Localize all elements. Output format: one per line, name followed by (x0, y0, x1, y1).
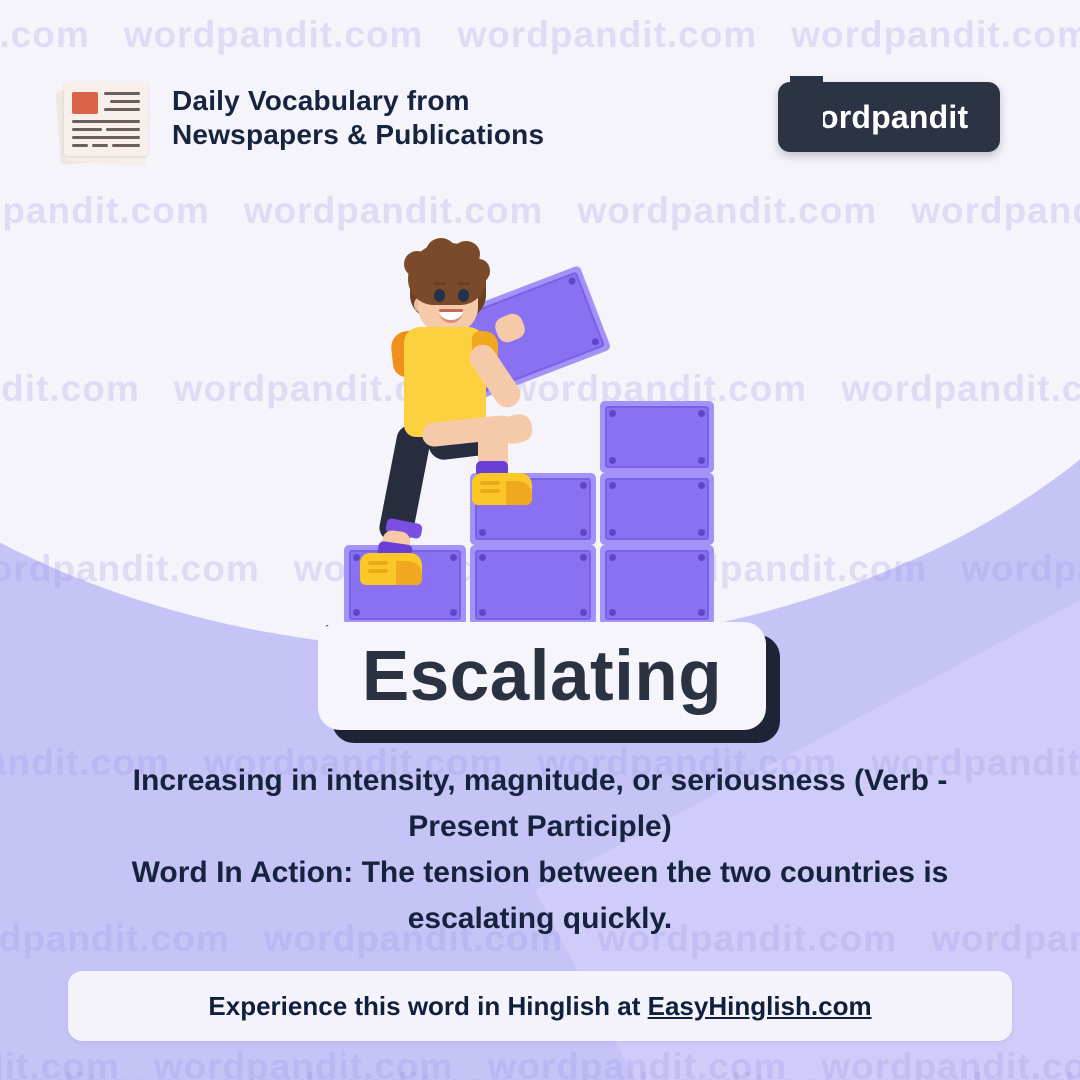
newspaper-icon (52, 68, 156, 168)
block-right-bottom (600, 545, 714, 625)
definition-block: Increasing in intensity, magnitude, or s… (26, 758, 1054, 942)
header-title-line1: Daily Vocabulary from (172, 84, 544, 118)
hinglish-banner-text: Experience this word in Hinglish at Easy… (208, 991, 871, 1022)
header: Daily Vocabulary from Newspapers & Publi… (52, 68, 544, 168)
eyebrow-left (433, 282, 446, 285)
header-title: Daily Vocabulary from Newspapers & Publi… (172, 84, 544, 152)
eyebrow-right (457, 282, 470, 285)
illustration-person-climbing-blocks (330, 235, 750, 635)
word-card: Escalating (318, 622, 766, 730)
bookmark-icon (790, 76, 823, 130)
definition-line-4: escalating quickly. (26, 896, 1054, 942)
block-right-top (600, 401, 714, 473)
vocabulary-word: Escalating (362, 641, 722, 712)
shoe-back (360, 553, 422, 585)
person-figure (330, 235, 520, 575)
hinglish-banner[interactable]: Experience this word in Hinglish at Easy… (68, 971, 1012, 1041)
word-card-wrapper: Escalating (318, 622, 766, 730)
eye-right (458, 289, 469, 302)
definition-line-3: Word In Action: The tension between the … (26, 850, 1054, 896)
block-right-middle (600, 473, 714, 545)
header-title-line2: Newspapers & Publications (172, 118, 544, 152)
hinglish-banner-prefix: Experience this word in Hinglish at (208, 991, 647, 1021)
logo-text: ordpandit (819, 99, 968, 136)
eye-left (434, 289, 445, 302)
definition-line-2: Present Participle) (26, 804, 1054, 850)
shoe-front (472, 473, 532, 505)
poster-canvas: wordpandit.comwordpandit.comwordpandit.c… (0, 0, 1080, 1080)
mouth-line (439, 309, 463, 312)
definition-line-1: Increasing in intensity, magnitude, or s… (26, 758, 1054, 804)
easyhinglish-link[interactable]: EasyHinglish.com (648, 991, 872, 1021)
wordpandit-logo[interactable]: ordpandit (778, 82, 1000, 152)
